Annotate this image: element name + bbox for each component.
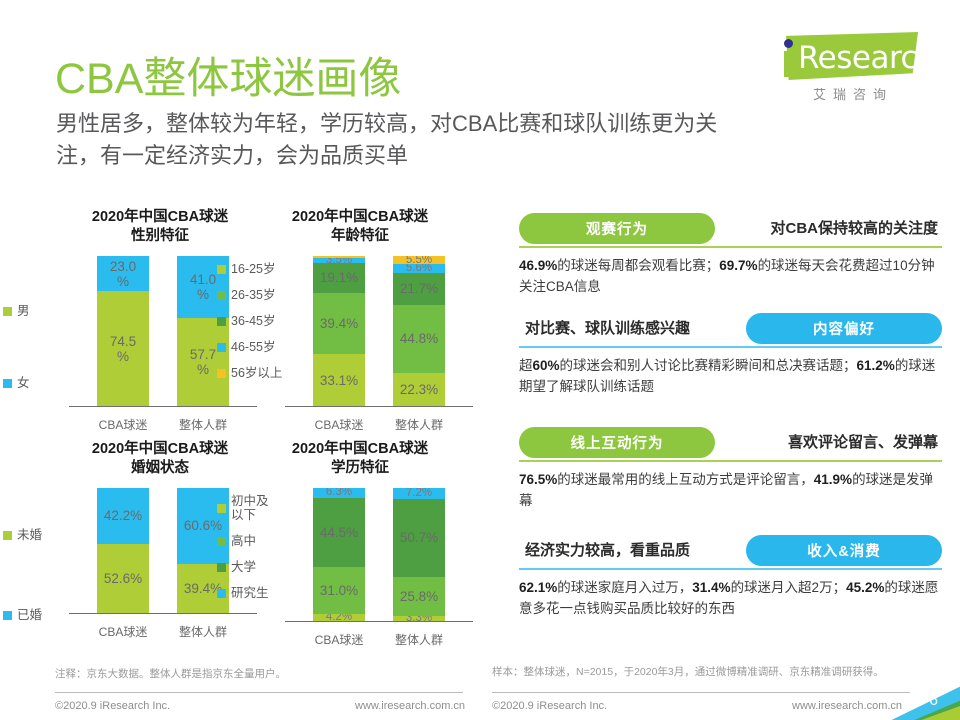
insight-header: 线上互动行为喜欢评论留言、发弹幕 — [519, 427, 942, 459]
page-subtitle: 男性居多，整体较为年轻，学历较高，对CBA比赛和球队训练更为关注，有一定经济实力… — [56, 108, 756, 172]
bar-segment: 5.6% — [393, 264, 445, 272]
legend-item: 高中 — [217, 534, 269, 548]
legend-label: 未婚 — [17, 528, 42, 542]
bar-segment: 19.1% — [313, 263, 365, 293]
legend-swatch-icon — [3, 531, 12, 540]
category-label: CBA球迷 — [83, 416, 163, 433]
chart-title: 2020年中国CBA球迷 学历特征 — [245, 440, 475, 478]
footer-copyright-right: ©2020.9 iResearch Inc. — [492, 700, 607, 712]
legend-swatch-icon — [217, 265, 226, 274]
legend-item: 46-55岁 — [217, 340, 282, 354]
legend-item: 已婚 — [3, 608, 42, 622]
insight-pill-badge[interactable]: 内容偏好 — [746, 313, 942, 344]
chart-legend: 男女 — [3, 304, 30, 448]
legend-item: 男 — [3, 304, 30, 318]
bar-segment: 44.8% — [393, 305, 445, 372]
iresearch-logo: Research 艾瑞咨询 — [768, 32, 918, 108]
legend-swatch-icon — [3, 611, 12, 620]
legend-label: 女 — [17, 376, 30, 390]
legend-label: 大学 — [231, 560, 256, 574]
legend-label: 16-25岁 — [231, 262, 275, 276]
legend-swatch-icon — [217, 291, 226, 300]
chart-plot-area: 6.3%44.5%31.0%4.2%CBA球迷7.2%50.7%25.8%3.3… — [245, 488, 475, 647]
legend-label: 56岁以上 — [231, 366, 282, 380]
legend-label: 研究生 — [231, 586, 269, 600]
insight-headline: 经济实力较高，看重品质 — [525, 539, 690, 560]
category-label: CBA球迷 — [299, 631, 379, 648]
x-axis-line — [69, 613, 257, 614]
chart-legend: 初中及 以下高中大学研究生 — [217, 494, 269, 612]
insight-section-1: 观赛行为对CBA保持较高的关注度46.9%的球迷每周都会观看比赛；69.7%的球… — [519, 213, 942, 297]
page-title: CBA整体球迷画像 — [55, 44, 401, 106]
chart-legend: 16-25岁26-35岁36-45岁46-55岁56岁以上 — [217, 262, 282, 392]
bar-segment: 23.0 % — [97, 256, 149, 291]
legend-item: 初中及 以下 — [217, 494, 269, 522]
charts-panel: 2020年中国CBA球迷 性别特征23.0 %74.5 %CBA球迷41.0 %… — [0, 200, 500, 670]
legend-label: 高中 — [231, 534, 256, 548]
legend-item: 未婚 — [3, 528, 42, 542]
logo-wordmark: Research — [798, 40, 936, 76]
footer-url-left: www.iresearch.com.cn — [355, 700, 465, 712]
legend-swatch-icon — [3, 307, 12, 316]
insight-rule — [519, 246, 942, 248]
insight-body: 62.1%的球迷家庭月入过万，31.4%的球迷月入超2万；45.2%的球迷愿意多… — [519, 577, 939, 619]
legend-item: 研究生 — [217, 586, 269, 600]
page-number: 6 — [929, 692, 938, 710]
insight-rule — [519, 346, 942, 348]
category-label: 整体人群 — [379, 416, 459, 433]
bar-stack-整体人群: 7.2%50.7%25.8%3.3% — [393, 488, 445, 621]
logo-i-dot-icon — [784, 39, 793, 48]
legend-label: 36-45岁 — [231, 314, 275, 328]
category-label: 整体人群 — [163, 416, 243, 433]
logo-chinese-name: 艾瑞咨询 — [792, 84, 914, 103]
bar-segment: 74.5 % — [97, 291, 149, 406]
legend-label: 已婚 — [17, 608, 42, 622]
insight-section-4: 收入&消费经济实力较高，看重品质62.1%的球迷家庭月入过万，31.4%的球迷月… — [519, 535, 942, 619]
insight-rule — [519, 460, 942, 462]
insight-pill-badge[interactable]: 观赛行为 — [519, 213, 715, 244]
bar-stack-CBA球迷: 3.5%19.1%39.4%33.1% — [313, 256, 365, 406]
insight-body: 超60%的球迷会和别人讨论比赛精彩瞬间和总决赛话题；61.2%的球迷期望了解球队… — [519, 355, 939, 397]
note-right: 样本：整体球迷，N=2015，于2020年3月，通过微博精准调研、京东精准调研获… — [492, 664, 884, 679]
legend-item: 36-45岁 — [217, 314, 282, 328]
legend-item: 大学 — [217, 560, 269, 574]
insights-panel: 观赛行为对CBA保持较高的关注度46.9%的球迷每周都会观看比赛；69.7%的球… — [505, 205, 945, 665]
legend-item: 26-35岁 — [217, 288, 282, 302]
insight-section-2: 内容偏好对比赛、球队训练感兴趣超60%的球迷会和别人讨论比赛精彩瞬间和总决赛话题… — [519, 313, 942, 397]
category-label: CBA球迷 — [299, 416, 379, 433]
category-label: CBA球迷 — [83, 623, 163, 640]
chart-education: 2020年中国CBA球迷 学历特征6.3%44.5%31.0%4.2%CBA球迷… — [245, 440, 475, 647]
bar-segment: 52.6% — [97, 544, 149, 613]
logo-i-stem — [784, 51, 793, 77]
slide-root: CBA整体球迷画像 男性居多，整体较为年轻，学历较高，对CBA比赛和球队训练更为… — [0, 0, 960, 720]
legend-swatch-icon — [3, 379, 12, 388]
legend-swatch-icon — [217, 317, 226, 326]
bar-segment: 50.7% — [393, 499, 445, 577]
bar-stack-CBA球迷: 6.3%44.5%31.0%4.2% — [313, 488, 365, 621]
legend-label: 26-35岁 — [231, 288, 275, 302]
bar-segment: 6.3% — [313, 488, 365, 498]
bar-segment: 22.3% — [393, 373, 445, 406]
bar-stack-CBA球迷: 23.0 %74.5 % — [97, 256, 149, 406]
bar-segment: 7.2% — [393, 488, 445, 499]
chart-title: 2020年中国CBA球迷 年龄特征 — [245, 208, 475, 246]
legend-item: 16-25岁 — [217, 262, 282, 276]
bar-segment: 39.4% — [313, 293, 365, 354]
x-axis-line — [285, 406, 473, 407]
insight-rule — [519, 568, 942, 570]
footer-divider-left — [55, 692, 463, 693]
x-axis-line — [69, 406, 257, 407]
chart-plot-area: 3.5%19.1%39.4%33.1%CBA球迷5.5%5.6%21.7%44.… — [245, 256, 475, 432]
bar-stack-整体人群: 5.5%5.6%21.7%44.8%22.3% — [393, 256, 445, 406]
footer-divider-right — [492, 692, 910, 693]
legend-swatch-icon — [217, 343, 226, 352]
bar-segment: 5.5% — [393, 256, 445, 264]
insight-header: 内容偏好对比赛、球队训练感兴趣 — [519, 313, 942, 345]
bar-segment: 33.1% — [313, 354, 365, 406]
insight-header: 观赛行为对CBA保持较高的关注度 — [519, 213, 942, 245]
bar-segment: 25.8% — [393, 577, 445, 616]
legend-swatch-icon — [217, 504, 226, 513]
insight-headline: 对比赛、球队训练感兴趣 — [525, 317, 690, 338]
chart-title: 2020年中国CBA球迷 婚姻状态 — [55, 440, 265, 478]
legend-item: 56岁以上 — [217, 366, 282, 380]
legend-swatch-icon — [217, 369, 226, 378]
insight-headline: 对CBA保持较高的关注度 — [771, 217, 939, 238]
insight-body: 76.5%的球迷最常用的线上互动方式是评论留言，41.9%的球迷是发弹幕 — [519, 469, 939, 511]
chart-age: 2020年中国CBA球迷 年龄特征3.5%19.1%39.4%33.1%CBA球… — [245, 208, 475, 432]
footer-copyright-left: ©2020.9 iResearch Inc. — [55, 700, 170, 712]
bar-segment: 44.5% — [313, 498, 365, 567]
bar-segment: 4.2% — [313, 614, 365, 620]
insight-section-3: 线上互动行为喜欢评论留言、发弹幕76.5%的球迷最常用的线上互动方式是评论留言，… — [519, 427, 942, 511]
insight-body: 46.9%的球迷每周都会观看比赛；69.7%的球迷每天会花费超过10分钟关注CB… — [519, 255, 939, 297]
bar-segment: 42.2% — [97, 488, 149, 544]
bar-stack-CBA球迷: 42.2%52.6% — [97, 488, 149, 613]
legend-label: 男 — [17, 304, 30, 318]
chart-title: 2020年中国CBA球迷 性别特征 — [55, 208, 265, 246]
bar-segment: 21.7% — [393, 273, 445, 306]
legend-label: 初中及 以下 — [231, 494, 269, 522]
insight-pill-badge[interactable]: 线上互动行为 — [519, 427, 715, 458]
note-left: 注释：京东大数据。整体人群是指京东全量用户。 — [55, 666, 286, 681]
bar-segment: 31.0% — [313, 567, 365, 615]
chart-legend: 未婚已婚 — [3, 528, 42, 688]
insight-pill-badge[interactable]: 收入&消费 — [746, 535, 942, 566]
insight-headline: 喜欢评论留言、发弹幕 — [788, 431, 938, 452]
legend-label: 46-55岁 — [231, 340, 275, 354]
x-axis-line — [285, 621, 473, 622]
legend-item: 女 — [3, 376, 30, 390]
category-label: 整体人群 — [379, 631, 459, 648]
corner-decoration — [874, 646, 960, 720]
legend-swatch-icon — [217, 563, 226, 572]
legend-swatch-icon — [217, 589, 226, 598]
category-label: 整体人群 — [163, 623, 243, 640]
insight-header: 收入&消费经济实力较高，看重品质 — [519, 535, 942, 567]
legend-swatch-icon — [217, 537, 226, 546]
